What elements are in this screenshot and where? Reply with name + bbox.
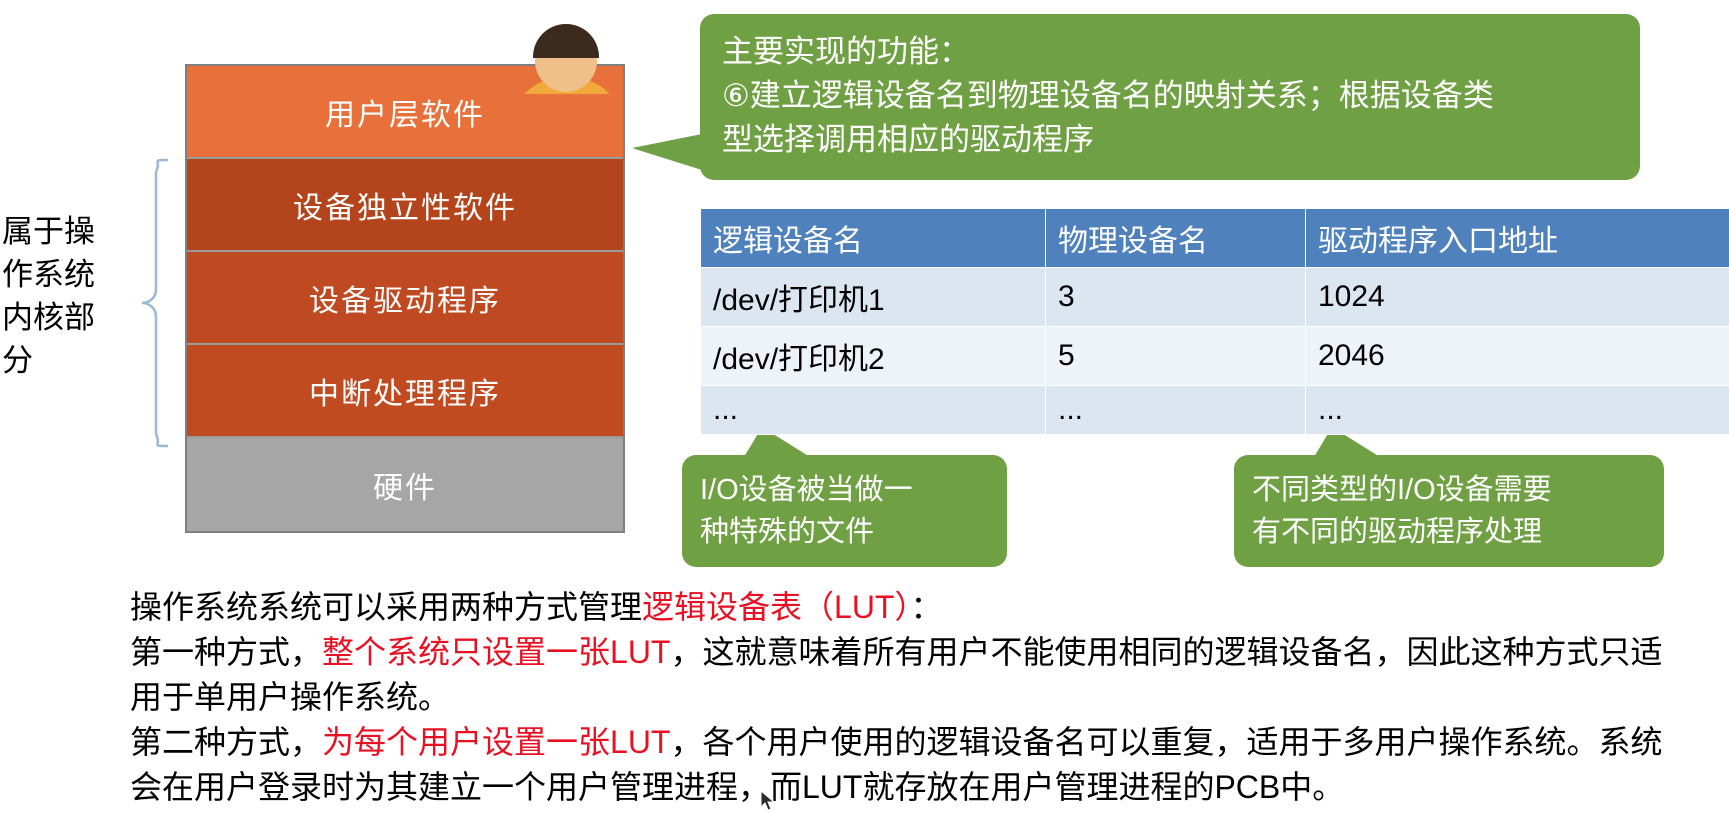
paragraph-1: 操作系统系统可以采用两种方式管理逻辑设备表（LUT）：: [130, 585, 1690, 630]
p1-highlight: 逻辑设备表（LUT）: [642, 589, 910, 625]
paragraph-3: 第二种方式，为每个用户设置一张LUT，各个用户使用的逻辑设备名可以重复，适用于多…: [130, 720, 1690, 810]
callout-io-as-file: I/O设备被当做一 种特殊的文件: [682, 455, 1007, 567]
cell-driver-address: 1024: [1306, 268, 1729, 327]
cell-logical-name: /dev/打印机2: [701, 327, 1046, 386]
p2-highlight: 整个系统只设置一张LUT: [322, 634, 670, 670]
user-avatar-icon: [497, 24, 637, 94]
cell-driver-address: 2046: [1306, 327, 1729, 386]
kernel-scope-label: 属于操作系统内核部分: [2, 210, 112, 382]
cell-logical-name: /dev/打印机1: [701, 268, 1046, 327]
p1-plain-a: 操作系统系统可以采用两种方式管理: [130, 589, 642, 625]
layer-interrupt-handler: 中断处理程序: [187, 345, 623, 438]
paragraph-2: 第一种方式，整个系统只设置一张LUT，这就意味着所有用户不能使用相同的逻辑设备名…: [130, 630, 1690, 720]
table-header-row: 逻辑设备名 物理设备名 驱动程序入口地址: [701, 209, 1729, 268]
layer-label: 设备驱动程序: [309, 276, 501, 320]
explanatory-text: 操作系统系统可以采用两种方式管理逻辑设备表（LUT）： 第一种方式，整个系统只设…: [130, 585, 1690, 810]
callout-driver-line2: 有不同的驱动程序处理: [1252, 511, 1646, 553]
table-row: ... ... ...: [701, 386, 1729, 435]
layered-io-diagram: 用户层软件 设备独立性软件 设备驱动程序 中断处理程序 硬件: [185, 64, 625, 533]
layer-label: 硬件: [373, 463, 437, 507]
cell-driver-address: ...: [1306, 386, 1729, 435]
callout-main-line3: 型选择调用相应的驱动程序: [722, 118, 1618, 162]
callout-io-line1: I/O设备被当做一: [700, 469, 989, 511]
table-header-logical-name: 逻辑设备名: [701, 209, 1046, 268]
callout-main-functions: 主要实现的功能： ⑥建立逻辑设备名到物理设备名的映射关系；根据设备类 型选择调用…: [700, 14, 1640, 180]
cell-physical-name: ...: [1046, 386, 1306, 435]
layer-device-driver: 设备驱动程序: [187, 252, 623, 345]
table-row: /dev/打印机2 5 2046: [701, 327, 1729, 386]
mouse-cursor-icon: [760, 790, 776, 812]
layer-label: 设备独立性软件: [293, 183, 517, 227]
p3-plain-a: 第二种方式，: [130, 724, 322, 760]
layer-label: 中断处理程序: [309, 369, 501, 413]
callout-driver-variety: 不同类型的I/O设备需要 有不同的驱动程序处理: [1234, 455, 1664, 567]
p2-plain-a: 第一种方式，: [130, 634, 322, 670]
table-header-driver-address: 驱动程序入口地址: [1306, 209, 1729, 268]
logical-unit-table: 逻辑设备名 物理设备名 驱动程序入口地址 /dev/打印机1 3 1024 /d…: [700, 208, 1729, 435]
p1-plain-b: ：: [910, 589, 942, 625]
layer-device-independent-software: 设备独立性软件: [187, 159, 623, 252]
table-row: /dev/打印机1 3 1024: [701, 268, 1729, 327]
cell-physical-name: 5: [1046, 327, 1306, 386]
kernel-scope-brace: [140, 158, 170, 448]
table-header-physical-name: 物理设备名: [1046, 209, 1306, 268]
callout-main-line1: 主要实现的功能：: [722, 30, 1618, 74]
layer-hardware: 硬件: [187, 438, 623, 531]
callout-io-line2: 种特殊的文件: [700, 511, 989, 553]
callout-driver-line1: 不同类型的I/O设备需要: [1252, 469, 1646, 511]
layer-label: 用户层软件: [325, 90, 485, 134]
p3-highlight: 为每个用户设置一张LUT: [322, 724, 670, 760]
callout-main-line2: ⑥建立逻辑设备名到物理设备名的映射关系；根据设备类: [722, 74, 1618, 118]
cell-physical-name: 3: [1046, 268, 1306, 327]
cell-logical-name: ...: [701, 386, 1046, 435]
